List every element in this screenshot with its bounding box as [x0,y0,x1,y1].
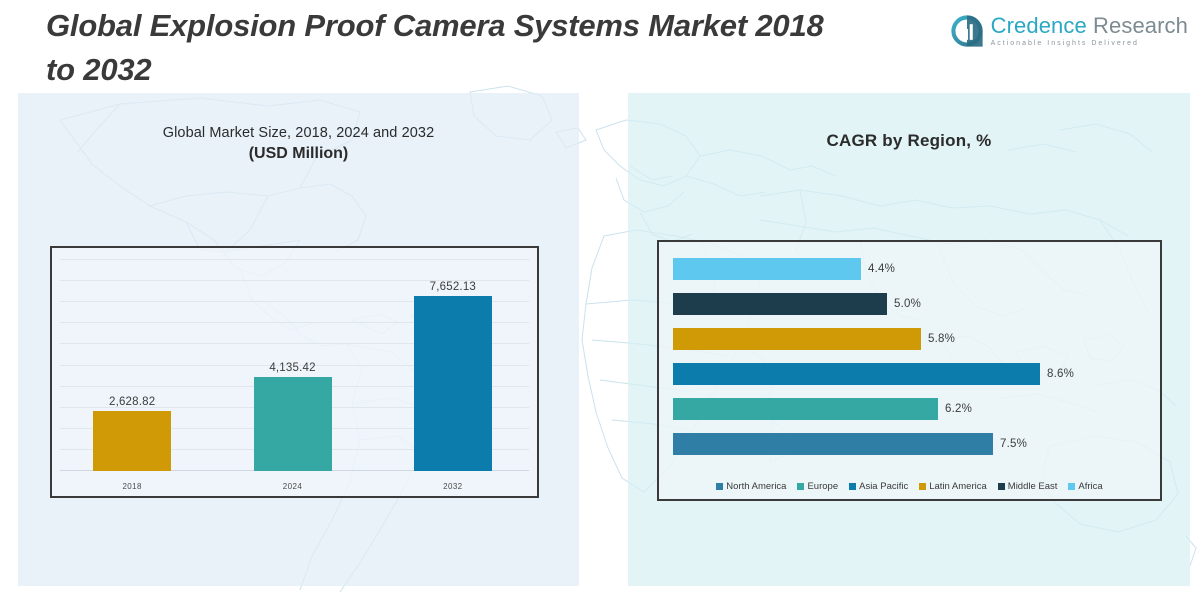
legend-swatch [716,483,723,490]
logo-wordmark: Credence Research [991,15,1188,37]
hbar-plot-area: 4.4%5.0%5.8%8.6%6.2%7.5% [659,242,1160,499]
column-value-label: 4,135.42 [213,362,373,374]
hbar-middle-east[interactable] [673,293,887,315]
legend-item[interactable]: Asia Pacific [849,481,908,492]
market-size-column-chart: 2,628.8220184,135.4220247,652.132032 [50,246,539,498]
hbar-latin-america[interactable] [673,328,921,350]
hbar-europe[interactable] [673,398,938,420]
logo-tagline: Actionable Insights Delivered [991,40,1188,47]
column-value-label: 2,628.82 [52,396,212,408]
bar-chart-circle-icon [950,14,984,48]
legend-item[interactable]: North America [716,481,786,492]
left-chart-title-line2: (USD Million) [18,145,579,163]
legend-item[interactable]: Middle East [998,481,1058,492]
column-group: 4,135.422024 [213,252,373,496]
hbar-row: 6.2% [673,398,1154,420]
legend-swatch [797,483,804,490]
legend-swatch [1068,483,1075,490]
column-bar[interactable] [414,296,492,471]
hbar-value-label: 5.0% [894,298,921,310]
hbar-row: 8.6% [673,363,1154,385]
header: Global Explosion Proof Camera Systems Ma… [0,0,1202,93]
logo-text: Credence Research Actionable Insights De… [991,15,1188,47]
hbar-value-label: 5.8% [928,333,955,345]
legend-label: Africa [1078,481,1102,492]
hbar-africa[interactable] [673,258,861,280]
logo-word-research: Research [1087,13,1188,38]
legend-label: Europe [807,481,838,492]
hbar-value-label: 8.6% [1047,368,1074,380]
legend-label: Latin America [929,481,987,492]
legend-item[interactable]: Europe [797,481,838,492]
legend-item[interactable]: Africa [1068,481,1102,492]
column-plot-area: 2,628.8220184,135.4220247,652.132032 [52,248,537,496]
logo-word-credence: Credence [991,13,1087,38]
legend-label: Asia Pacific [859,481,908,492]
left-chart-title-line1: Global Market Size, 2018, 2024 and 2032 [18,125,579,141]
right-chart-panel: CAGR by Region, % 4.4%5.0%5.8%8.6%6.2%7.… [628,93,1190,586]
legend-item[interactable]: Latin America [919,481,987,492]
column-value-label: 7,652.13 [373,281,533,293]
hbar-value-label: 6.2% [945,403,972,415]
column-bar[interactable] [93,411,171,471]
left-chart-panel: Global Market Size, 2018, 2024 and 2032 … [18,93,579,586]
column-category-label: 2032 [373,482,533,491]
column-bar[interactable] [254,377,332,471]
column-category-label: 2018 [52,482,212,491]
legend-swatch [998,483,1005,490]
hbar-row: 5.8% [673,328,1154,350]
hbar-row: 5.0% [673,293,1154,315]
hbar-value-label: 4.4% [868,263,895,275]
hbar-row: 7.5% [673,433,1154,455]
credence-research-logo: Credence Research Actionable Insights De… [950,10,1188,52]
hbar-value-label: 7.5% [1000,438,1027,450]
legend-label: Middle East [1008,481,1058,492]
column-category-label: 2024 [213,482,373,491]
hbar-north-america[interactable] [673,433,993,455]
right-chart-title: CAGR by Region, % [628,131,1190,151]
hbar-row: 4.4% [673,258,1154,280]
chart-legend: North AmericaEuropeAsia PacificLatin Ame… [659,481,1160,492]
hbar-asia-pacific[interactable] [673,363,1040,385]
column-group: 2,628.822018 [52,252,212,496]
legend-swatch [849,483,856,490]
legend-swatch [919,483,926,490]
page-title: Global Explosion Proof Camera Systems Ma… [46,4,836,92]
cagr-by-region-bar-chart: 4.4%5.0%5.8%8.6%6.2%7.5% North AmericaEu… [657,240,1162,501]
column-group: 7,652.132032 [373,252,533,496]
legend-label: North America [726,481,786,492]
